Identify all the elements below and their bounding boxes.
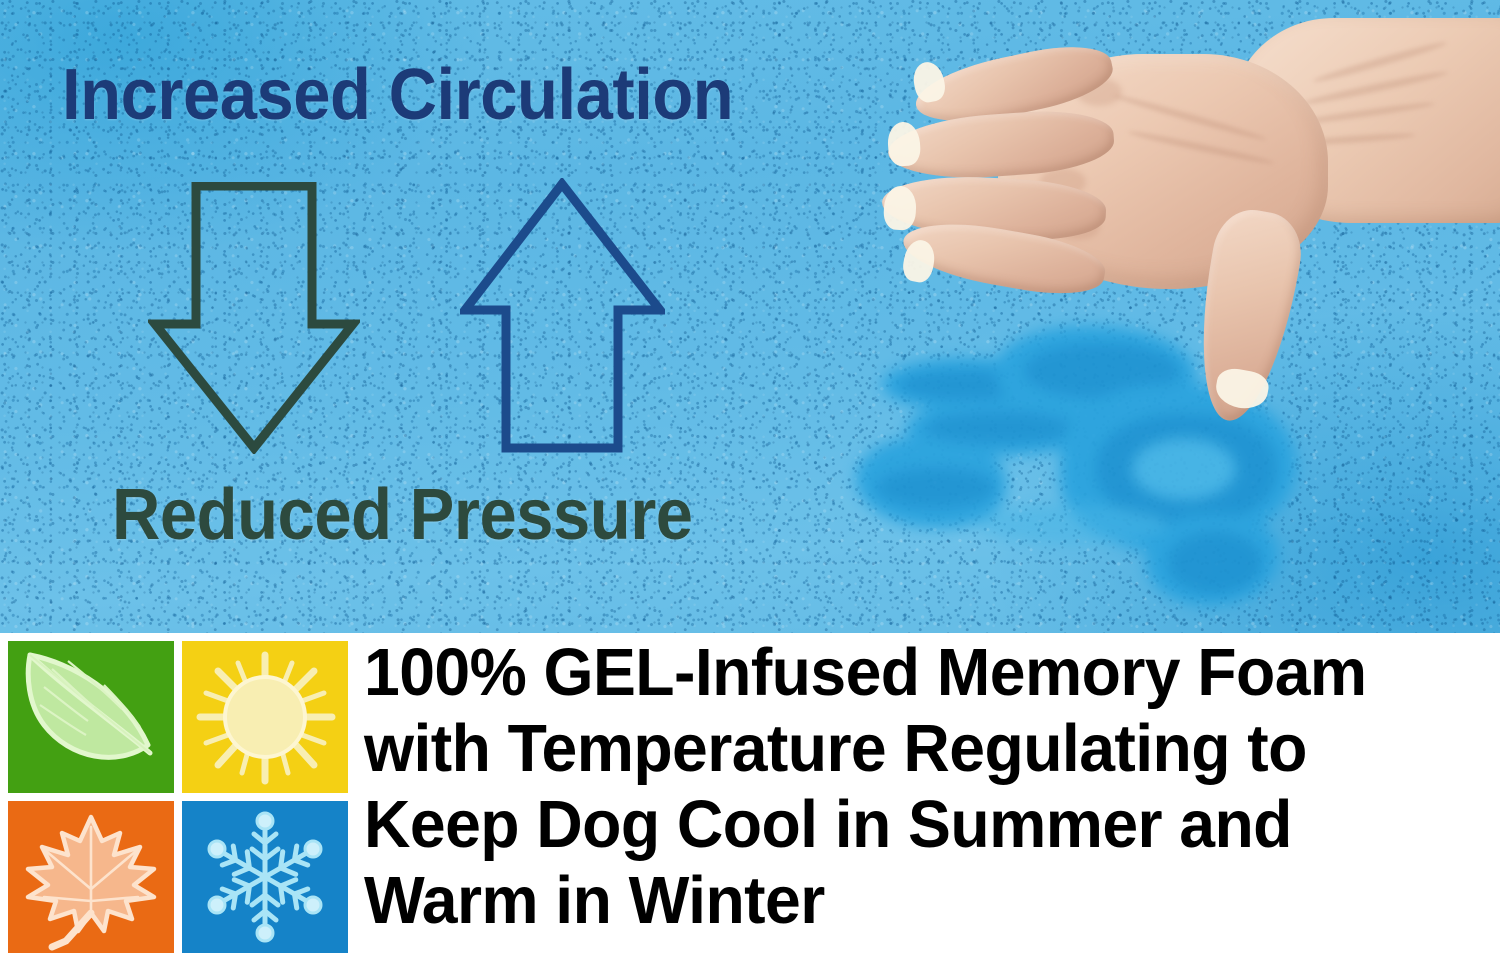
headline-line-2: with Temperature Regulating to: [364, 711, 1455, 787]
winter-snow-tile: [182, 801, 348, 953]
arrow-down-icon: [148, 182, 360, 454]
product-headline: 100% GEL-Infused Memory Foam with Temper…: [364, 635, 1455, 939]
hand-photo: [880, 18, 1500, 438]
reduced-pressure-label: Reduced Pressure: [112, 474, 693, 556]
summer-sun-tile: [182, 641, 348, 793]
memory-foam-photo-panel: Increased Circulation Reduced Pressure: [0, 0, 1500, 633]
arrow-up-icon: [460, 178, 665, 454]
sun-icon: [182, 641, 348, 793]
increased-circulation-label: Increased Circulation: [62, 54, 733, 136]
headline-line-1: 100% GEL-Infused Memory Foam: [364, 635, 1455, 711]
snowflake-icon: [182, 801, 348, 953]
maple-leaf-icon: [8, 801, 174, 953]
autumn-leaf-tile: [8, 801, 174, 953]
headline-line-4: Warm in Winter: [364, 863, 1455, 939]
product-feature-graphic: Increased Circulation Reduced Pressure: [0, 0, 1500, 962]
leaf-icon: [8, 641, 174, 793]
feature-callout-section: 100% GEL-Infused Memory Foam with Temper…: [0, 633, 1500, 962]
season-icon-grid: [8, 641, 348, 953]
spring-leaf-tile: [8, 641, 174, 793]
headline-line-3: Keep Dog Cool in Summer and: [364, 787, 1455, 863]
